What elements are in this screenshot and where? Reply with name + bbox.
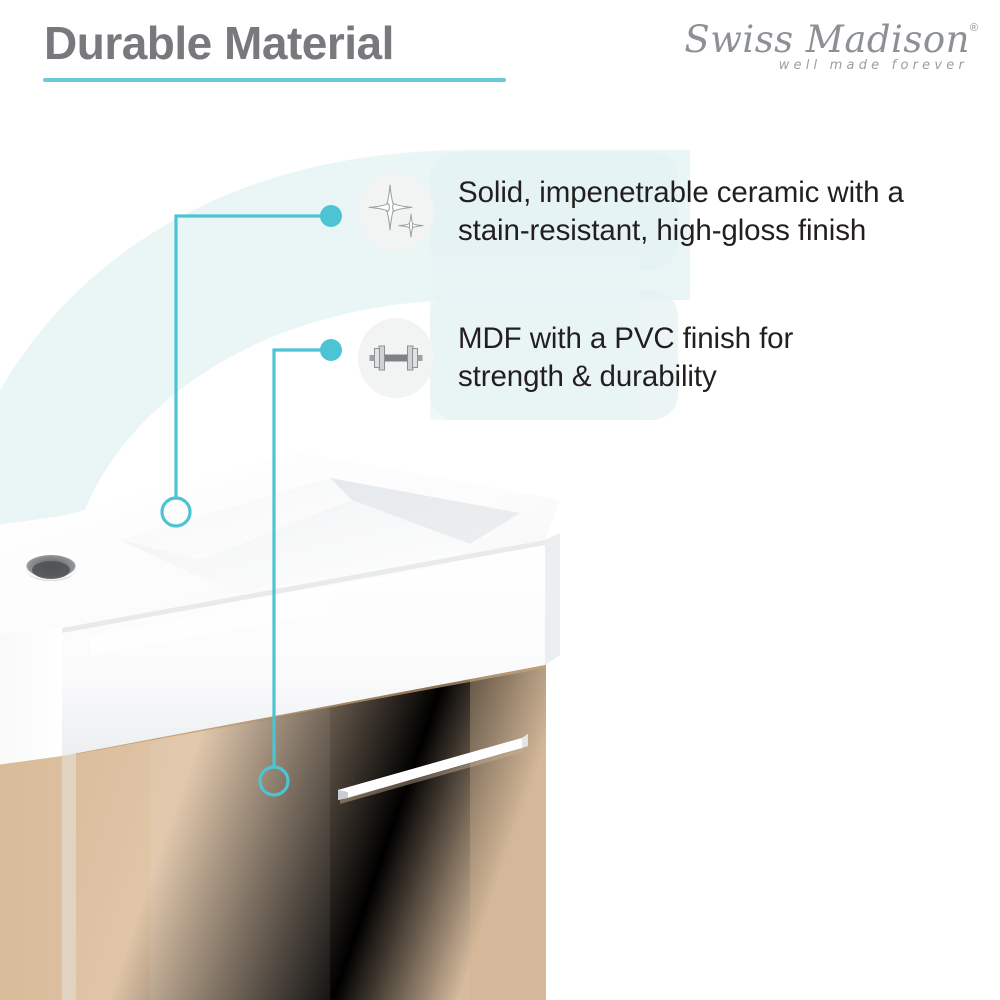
connector-mdf <box>260 339 342 795</box>
dumbbell-icon <box>368 341 424 375</box>
registered-trademark-icon: ® <box>970 22 978 34</box>
callout-mdf: MDF with a PVC finish for strength & dur… <box>358 318 793 398</box>
callout-ceramic: Solid, impenetrable ceramic with a stain… <box>358 172 904 252</box>
page-title: Durable Material <box>44 16 394 70</box>
connector-ceramic <box>162 205 342 526</box>
callout-icon-wrapper <box>358 172 434 252</box>
callout-ceramic-text: Solid, impenetrable ceramic with a stain… <box>458 174 904 250</box>
callout-icon-wrapper <box>358 318 434 398</box>
connector-dot-mdf <box>320 339 342 361</box>
title-underline <box>43 78 506 82</box>
callout-connectors <box>0 0 1000 1000</box>
infographic-canvas: Durable Material Swiss Madison ® well ma… <box>0 0 1000 1000</box>
sparkle-icon <box>368 183 424 241</box>
brand-tagline: well made forever <box>779 58 968 73</box>
brand-wordmark: Swiss Madison <box>684 18 970 61</box>
callout-mdf-text: MDF with a PVC finish for strength & dur… <box>458 320 793 396</box>
connector-dot-ceramic <box>320 205 342 227</box>
